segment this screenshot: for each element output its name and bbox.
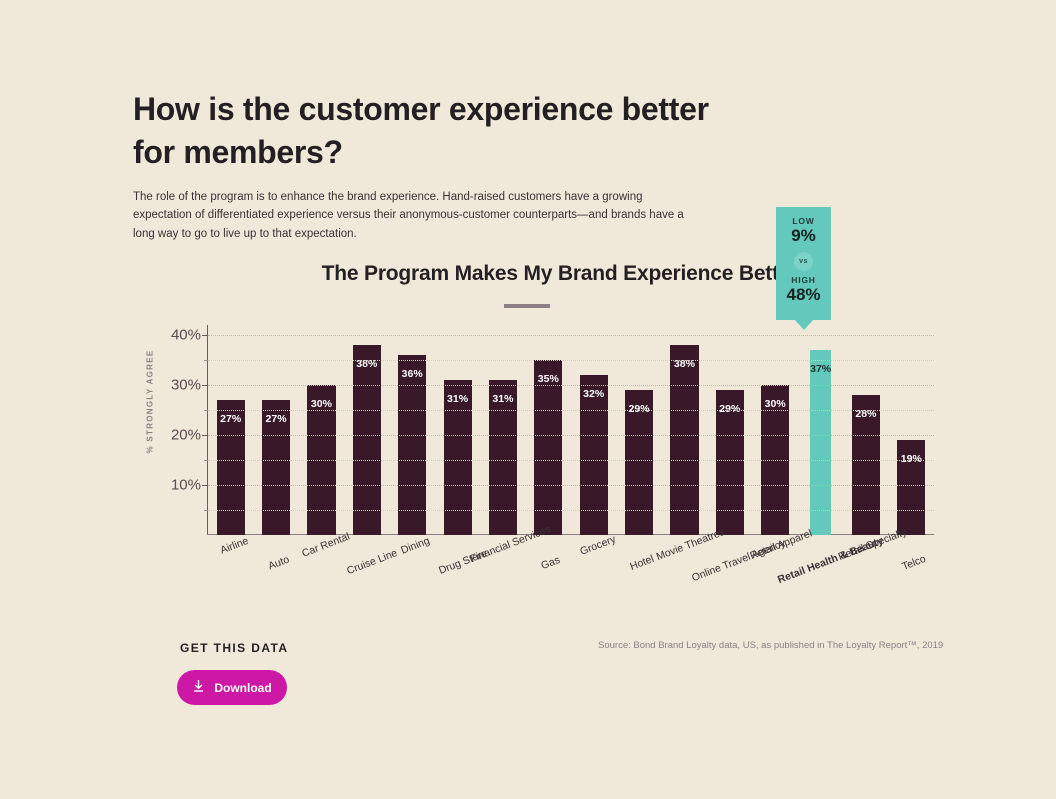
y-tick-mark-minor <box>204 460 208 461</box>
gridline <box>208 485 934 486</box>
gridline-minor <box>208 410 934 411</box>
bar[interactable]: 27% <box>217 400 245 535</box>
bar-slot: 38% <box>662 325 707 535</box>
bar-slot: 29% <box>616 325 661 535</box>
page-header: How is the customer experience better fo… <box>133 88 753 244</box>
x-label-slot: Auto <box>252 533 297 603</box>
gridline <box>208 335 934 336</box>
bar-value-label: 27% <box>217 413 245 425</box>
bar-slot: 32% <box>571 325 616 535</box>
y-tick-mark <box>202 435 208 436</box>
callout-high-value: 48% <box>776 286 831 305</box>
x-tick-label: Dining <box>400 535 432 557</box>
x-axis-tick-labels: AirlineAutoCar RentalCruise LineDiningDr… <box>207 533 933 603</box>
bar-value-label: 32% <box>580 388 608 400</box>
page-description: The role of the program is to enhance th… <box>133 188 693 244</box>
download-button[interactable]: Download <box>177 670 287 705</box>
callout-low-value: 9% <box>776 227 831 246</box>
y-tick-mark <box>202 385 208 386</box>
y-tick-mark-minor <box>204 410 208 411</box>
x-label-slot: Drug Store <box>434 533 479 603</box>
bar-chart: % STRONGLY AGREE 10%20%30%40% 27%27%30%3… <box>133 325 933 540</box>
y-tick-mark <box>202 335 208 336</box>
bar-slot: 28% <box>843 325 888 535</box>
bar-value-label: 30% <box>761 398 789 410</box>
bar-highlighted[interactable]: 37% <box>810 350 831 535</box>
bar[interactable]: 27% <box>262 400 290 535</box>
bar-slot: 30% <box>753 325 798 535</box>
x-label-slot: Dining <box>389 533 434 603</box>
bar-value-label: 37% <box>810 363 831 375</box>
y-tick-mark-minor <box>204 360 208 361</box>
bar[interactable]: 31% <box>444 380 472 535</box>
bar[interactable]: 32% <box>580 375 608 535</box>
bar-slot: 37% <box>798 325 843 535</box>
x-tick-label: Grocery <box>578 533 617 558</box>
bar[interactable]: 35% <box>534 360 562 535</box>
x-label-slot: Financial Services <box>479 533 524 603</box>
x-tick-label: Airline <box>218 535 250 557</box>
title-divider <box>504 304 550 308</box>
x-label-slot: Cruise Line <box>343 533 388 603</box>
bar-slot: 30% <box>299 325 344 535</box>
bar-slot: 31% <box>435 325 480 535</box>
bar-value-label: 29% <box>625 403 653 415</box>
bar-slot: 36% <box>390 325 435 535</box>
bar-slot: 27% <box>208 325 253 535</box>
x-label-slot: Retail Apparel <box>752 533 797 603</box>
bar-value-label: 30% <box>307 398 335 410</box>
x-tick-label: Gas <box>540 554 562 572</box>
bar-value-label: 31% <box>444 393 472 405</box>
gridline <box>208 385 934 386</box>
bar-value-label: 29% <box>716 403 744 415</box>
x-label-slot: Retail Specialty <box>842 533 887 603</box>
x-tick-label: Telco <box>901 553 928 573</box>
bar[interactable]: 29% <box>716 390 744 535</box>
get-this-data-label: GET THIS DATA <box>180 641 288 655</box>
y-tick-mark-minor <box>204 510 208 511</box>
download-arrow-icon <box>192 679 205 696</box>
bar[interactable]: 19% <box>897 440 925 535</box>
bar-value-label: 31% <box>489 393 517 405</box>
bar-slot: 31% <box>480 325 525 535</box>
bar[interactable]: 29% <box>625 390 653 535</box>
callout-low-tag: LOW <box>776 207 831 226</box>
x-tick-label: Hotel <box>628 553 655 573</box>
x-label-slot: Hotel <box>615 533 660 603</box>
x-label-slot: Airline <box>207 533 252 603</box>
bar-slot: 38% <box>344 325 389 535</box>
chart-source: Source: Bond Brand Loyalty data, US, as … <box>598 640 943 651</box>
y-axis-tick-labels: 10%20%30%40% <box>133 325 201 535</box>
gridline-minor <box>208 360 934 361</box>
x-label-slot: Grocery <box>570 533 615 603</box>
y-tick-label: 30% <box>141 377 201 394</box>
callout-vs-badge: vs <box>794 252 813 271</box>
bar-slot: 27% <box>253 325 298 535</box>
y-tick-label: 20% <box>141 427 201 444</box>
bar-slot: 35% <box>526 325 571 535</box>
bar[interactable]: 31% <box>489 380 517 535</box>
bar[interactable]: 38% <box>670 345 698 535</box>
download-button-label: Download <box>214 681 271 695</box>
plot-area: 27%27%30%38%36%31%31%35%32%29%38%29%30%3… <box>207 325 934 535</box>
bar-value-label: 36% <box>398 368 426 380</box>
x-label-slot: Gas <box>525 533 570 603</box>
bar-value-label: 19% <box>897 453 925 465</box>
bar-slot: 19% <box>889 325 934 535</box>
low-vs-high-callout: LOW 9% vs HIGH 48% <box>776 207 831 320</box>
y-tick-label: 40% <box>141 327 201 344</box>
x-tick-label: Auto <box>267 554 291 573</box>
x-label-slot: Telco <box>888 533 933 603</box>
callout-high-tag: HIGH <box>776 275 831 285</box>
bar-slot: 29% <box>707 325 752 535</box>
x-label-slot: Online Travel Agency <box>706 533 751 603</box>
bar[interactable]: 36% <box>398 355 426 535</box>
gridline <box>208 435 934 436</box>
bar-series: 27%27%30%38%36%31%31%35%32%29%38%29%30%3… <box>208 325 934 535</box>
x-label-slot: Movie Theatres <box>661 533 706 603</box>
bar[interactable]: 38% <box>353 345 381 535</box>
x-label-slot: Retail Health & Beauty <box>797 533 842 603</box>
page-title: How is the customer experience better fo… <box>133 88 753 174</box>
y-tick-mark <box>202 485 208 486</box>
bar[interactable]: 28% <box>852 395 880 535</box>
y-tick-label: 10% <box>141 477 201 494</box>
bar-value-label: 35% <box>534 373 562 385</box>
bar-value-label: 27% <box>262 413 290 425</box>
x-label-slot: Car Rental <box>298 533 343 603</box>
gridline-minor <box>208 460 934 461</box>
gridline-minor <box>208 510 934 511</box>
